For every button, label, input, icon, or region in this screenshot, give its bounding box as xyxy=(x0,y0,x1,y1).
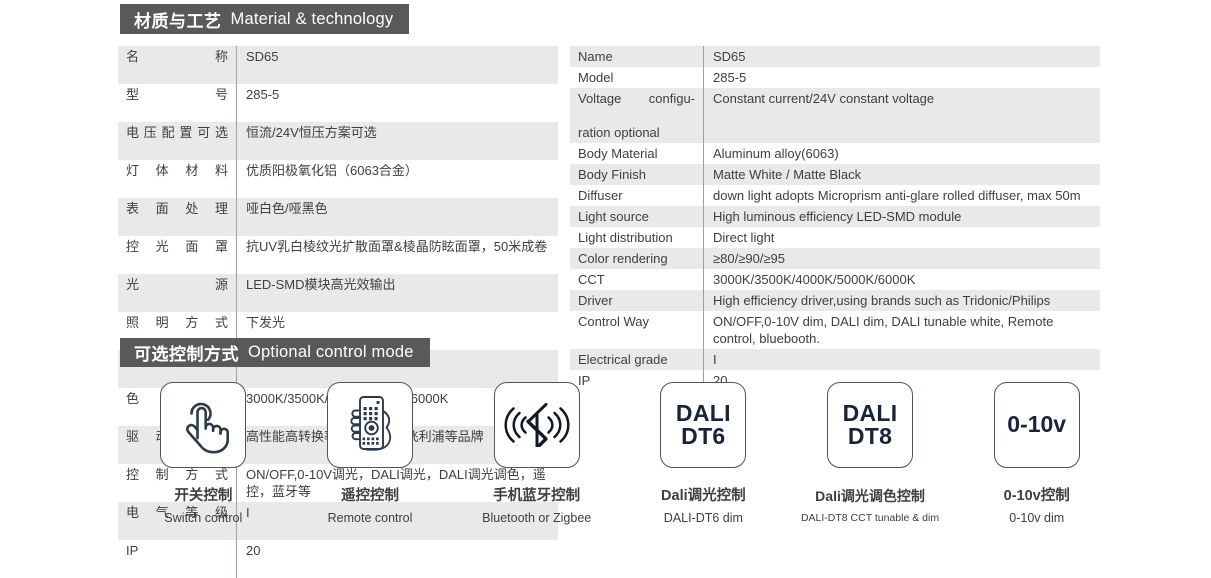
control-mode-label-en: Remote control xyxy=(328,510,413,526)
remote-control-icon-box xyxy=(327,382,413,468)
control-mode-label-cn: 遥控控制 xyxy=(341,487,399,505)
spec-key: Light source xyxy=(570,206,703,227)
spec-value: 285-5 xyxy=(236,84,558,122)
table-row: 灯 体 材 料 优质阳极氧化铝（6063合金） xyxy=(118,160,558,198)
spec-value: 恒流/24V恒压方案可选 xyxy=(236,122,558,160)
zero-to-ten-volt-badge-box: 0-10v xyxy=(994,382,1080,468)
table-row: Color rendering ≥80/≥90/≥95 xyxy=(570,248,1100,269)
spec-key: 表 面 处 理 xyxy=(118,198,236,236)
zero-to-ten-volt-badge: 0-10v xyxy=(1007,413,1066,436)
table-row: 名 称 SD65 xyxy=(118,46,558,84)
spec-value: I xyxy=(703,349,1100,370)
spec-value: down light adopts Microprism anti-glare … xyxy=(703,185,1100,206)
section-header-material-en: Material & technology xyxy=(231,10,394,29)
section-header-control-en: Optional control mode xyxy=(248,343,414,362)
table-row: Name SD65 xyxy=(570,46,1100,67)
table-row: 光 源 LED-SMD模块高光效输出 xyxy=(118,274,558,312)
table-row: Model 285-5 xyxy=(570,67,1100,88)
spec-value: 优质阳极氧化铝（6063合金） xyxy=(236,160,558,198)
dali-dt8-badge-line2: DT8 xyxy=(848,425,892,448)
spec-key: Body Material xyxy=(570,143,703,164)
spec-key: IP xyxy=(118,540,236,578)
spec-value: 285-5 xyxy=(703,67,1100,88)
dali-dt8-badge: DALI DT8 xyxy=(843,402,898,449)
control-mode-label-en: DALI-DT6 dim xyxy=(664,510,743,526)
dali-dt8-badge-box: DALI DT8 xyxy=(827,382,913,468)
section-header-material-cn: 材质与工艺 xyxy=(134,7,222,32)
table-row: Driver High efficiency driver,using bran… xyxy=(570,290,1100,311)
table-row: Light source High luminous efficiency LE… xyxy=(570,206,1100,227)
spec-key: 名 称 xyxy=(118,46,236,84)
spec-key: Diffuser xyxy=(570,185,703,206)
control-mode-label-cn: 开关控制 xyxy=(174,487,232,505)
touch-hand-icon-box xyxy=(160,382,246,468)
control-mode-label-cn: Dali调光调色控制 xyxy=(815,487,925,505)
spec-key: 光 源 xyxy=(118,274,236,312)
table-row: CCT 3000K/3500K/4000K/5000K/6000K xyxy=(570,269,1100,290)
spec-value: SD65 xyxy=(236,46,558,84)
spec-value: Constant current/24V constant voltage xyxy=(703,88,1100,143)
spec-value: ≥80/≥90/≥95 xyxy=(703,248,1100,269)
control-mode-dali-dt8[interactable]: DALI DT8 Dali调光调色控制 DALI-DT8 CCT tunable… xyxy=(787,382,954,526)
spec-value: ON/OFF,0-10V dim, DALI dim, DALI tunable… xyxy=(703,311,1100,349)
zero-to-ten-volt-badge-line1: 0-10v xyxy=(1007,413,1066,436)
section-header-material: 材质与工艺 Material & technology xyxy=(120,4,409,34)
spec-value: SD65 xyxy=(703,46,1100,67)
table-row: 表 面 处 理 哑白色/哑黑色 xyxy=(118,198,558,236)
dali-dt6-badge-line1: DALI xyxy=(676,402,731,425)
spec-key: 灯 体 材 料 xyxy=(118,160,236,198)
table-row: Body Material Aluminum alloy(6063) xyxy=(570,143,1100,164)
spec-value: 抗UV乳白棱纹光扩散面罩&棱晶防眩面罩，50米成卷 xyxy=(236,236,558,274)
table-row: 型号 285-5 xyxy=(118,84,558,122)
control-mode-label-cn: 手机蓝牙控制 xyxy=(493,487,580,505)
control-mode-switch[interactable]: 开关控制 Switch control xyxy=(120,382,287,526)
spec-key: Electrical grade xyxy=(570,349,703,370)
table-row: IP 20 xyxy=(118,540,558,578)
spec-key: 控 光 面 罩 xyxy=(118,236,236,274)
spec-key: Light distribution xyxy=(570,227,703,248)
control-mode-bluetooth[interactable]: 手机蓝牙控制 Bluetooth or Zigbee xyxy=(453,382,620,526)
remote-control-icon xyxy=(341,394,399,456)
control-mode-label-en: 0-10v dim xyxy=(1009,510,1064,526)
spec-key: 型号 xyxy=(118,84,236,122)
control-mode-list: 开关控制 Switch control xyxy=(120,382,1120,526)
touch-hand-icon xyxy=(175,396,231,454)
dali-dt6-badge-line2: DT6 xyxy=(681,425,725,448)
spec-value: Aluminum alloy(6063) xyxy=(703,143,1100,164)
spec-key: Control Way xyxy=(570,311,703,332)
bluetooth-icon-box xyxy=(494,382,580,468)
control-mode-dali-dt6[interactable]: DALI DT6 Dali调光控制 DALI-DT6 dim xyxy=(620,382,787,526)
spec-value: LED-SMD模块高光效输出 xyxy=(236,274,558,312)
spec-key: Model xyxy=(570,67,703,88)
section-header-control-cn: 可选控制方式 xyxy=(134,340,239,365)
spec-table-english: Name SD65 Model 285-5 Voltage configu-ra… xyxy=(570,46,1100,391)
section-header-control-mode: 可选控制方式 Optional control mode xyxy=(120,338,430,367)
table-row: 电压配置可选 恒流/24V恒压方案可选 xyxy=(118,122,558,160)
spec-key: Color rendering xyxy=(570,248,703,269)
control-mode-remote[interactable]: 遥控控制 Remote control xyxy=(287,382,454,526)
table-row: Diffuser down light adopts Microprism an… xyxy=(570,185,1100,206)
product-spec-sheet: 材质与工艺 Material & technology 名 称 SD65 型号 … xyxy=(0,0,1211,541)
dali-dt6-badge-box: DALI DT6 xyxy=(660,382,746,468)
spec-value: 哑白色/哑黑色 xyxy=(236,198,558,236)
control-mode-label-en: Bluetooth or Zigbee xyxy=(482,510,591,526)
spec-value: High efficiency driver,using brands such… xyxy=(703,290,1100,311)
spec-value: 3000K/3500K/4000K/5000K/6000K xyxy=(703,269,1100,290)
table-row: 控 光 面 罩 抗UV乳白棱纹光扩散面罩&棱晶防眩面罩，50米成卷 xyxy=(118,236,558,274)
dali-dt6-badge: DALI DT6 xyxy=(676,402,731,449)
spec-value: 20 xyxy=(236,540,558,578)
table-row: Body Finish Matte White / Matte Black xyxy=(570,164,1100,185)
control-mode-label-en: DALI-DT8 CCT tunable & dim xyxy=(801,510,939,526)
table-row: Electrical grade I xyxy=(570,349,1100,370)
spec-key: Voltage configu-ration optional xyxy=(570,88,703,143)
control-mode-label-en: Switch control xyxy=(164,510,242,526)
control-mode-label-cn: 0-10v控制 xyxy=(1004,487,1070,505)
table-row: Control Way ON/OFF,0-10V dim, DALI dim, … xyxy=(570,311,1100,349)
spec-value: High luminous efficiency LED-SMD module xyxy=(703,206,1100,227)
bluetooth-icon xyxy=(504,403,570,447)
spec-key: Driver xyxy=(570,290,703,311)
control-mode-label-cn: Dali调光控制 xyxy=(661,487,746,505)
table-row: Light distribution Direct light xyxy=(570,227,1100,248)
spec-value: Matte White / Matte Black xyxy=(703,164,1100,185)
dali-dt8-badge-line1: DALI xyxy=(843,402,898,425)
spec-value: Direct light xyxy=(703,227,1100,248)
spec-key: Body Finish xyxy=(570,164,703,185)
spec-key: 电压配置可选 xyxy=(118,122,236,160)
control-mode-0-10v[interactable]: 0-10v 0-10v控制 0-10v dim xyxy=(953,382,1120,526)
spec-key: Name xyxy=(570,46,703,67)
table-row: Voltage configu-ration optional Constant… xyxy=(570,88,1100,143)
spec-key: CCT xyxy=(570,269,703,290)
